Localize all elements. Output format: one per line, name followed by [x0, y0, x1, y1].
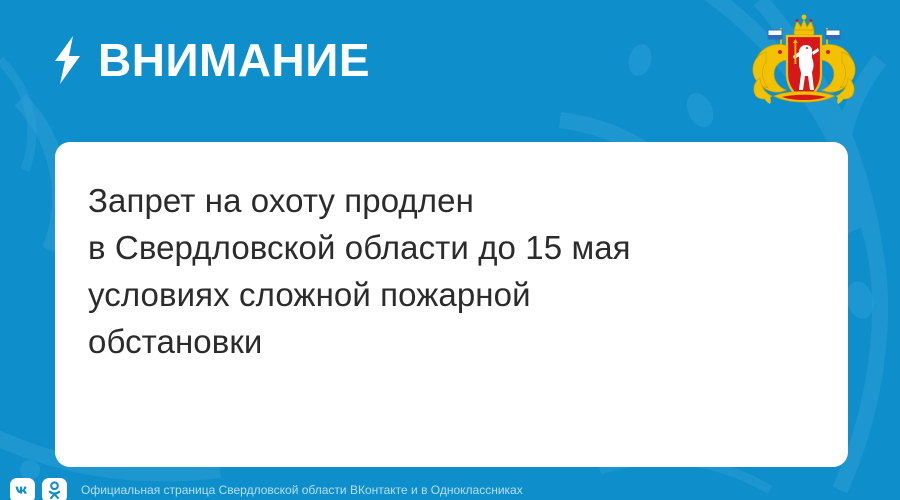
footer-social-bar: Официальная страница Свердловской област… — [10, 478, 523, 500]
announcement-text: Запрет на охоту продлен в Свердловской о… — [88, 177, 828, 365]
announcement-line-2: в Свердловской области до 15 мая — [88, 224, 828, 271]
lightning-bolt-icon — [52, 36, 82, 84]
page-title: ВНИМАНИЕ — [98, 36, 370, 84]
odnoklassniki-icon[interactable] — [42, 478, 67, 500]
header: ВНИМАНИЕ — [52, 32, 370, 88]
announcement-card: Запрет на охоту продлен в Свердловской о… — [55, 142, 848, 467]
announcement-line-1: Запрет на охоту продлен — [88, 177, 828, 224]
coat-of-arms-icon — [744, 12, 864, 112]
poster: ВНИМАНИЕ — [0, 0, 900, 500]
announcement-line-3: условиях сложной пожарной — [88, 271, 828, 318]
vk-icon[interactable] — [10, 478, 35, 500]
announcement-line-4: обстановки — [88, 318, 828, 365]
footer-caption: Официальная страница Свердловской област… — [74, 478, 523, 500]
